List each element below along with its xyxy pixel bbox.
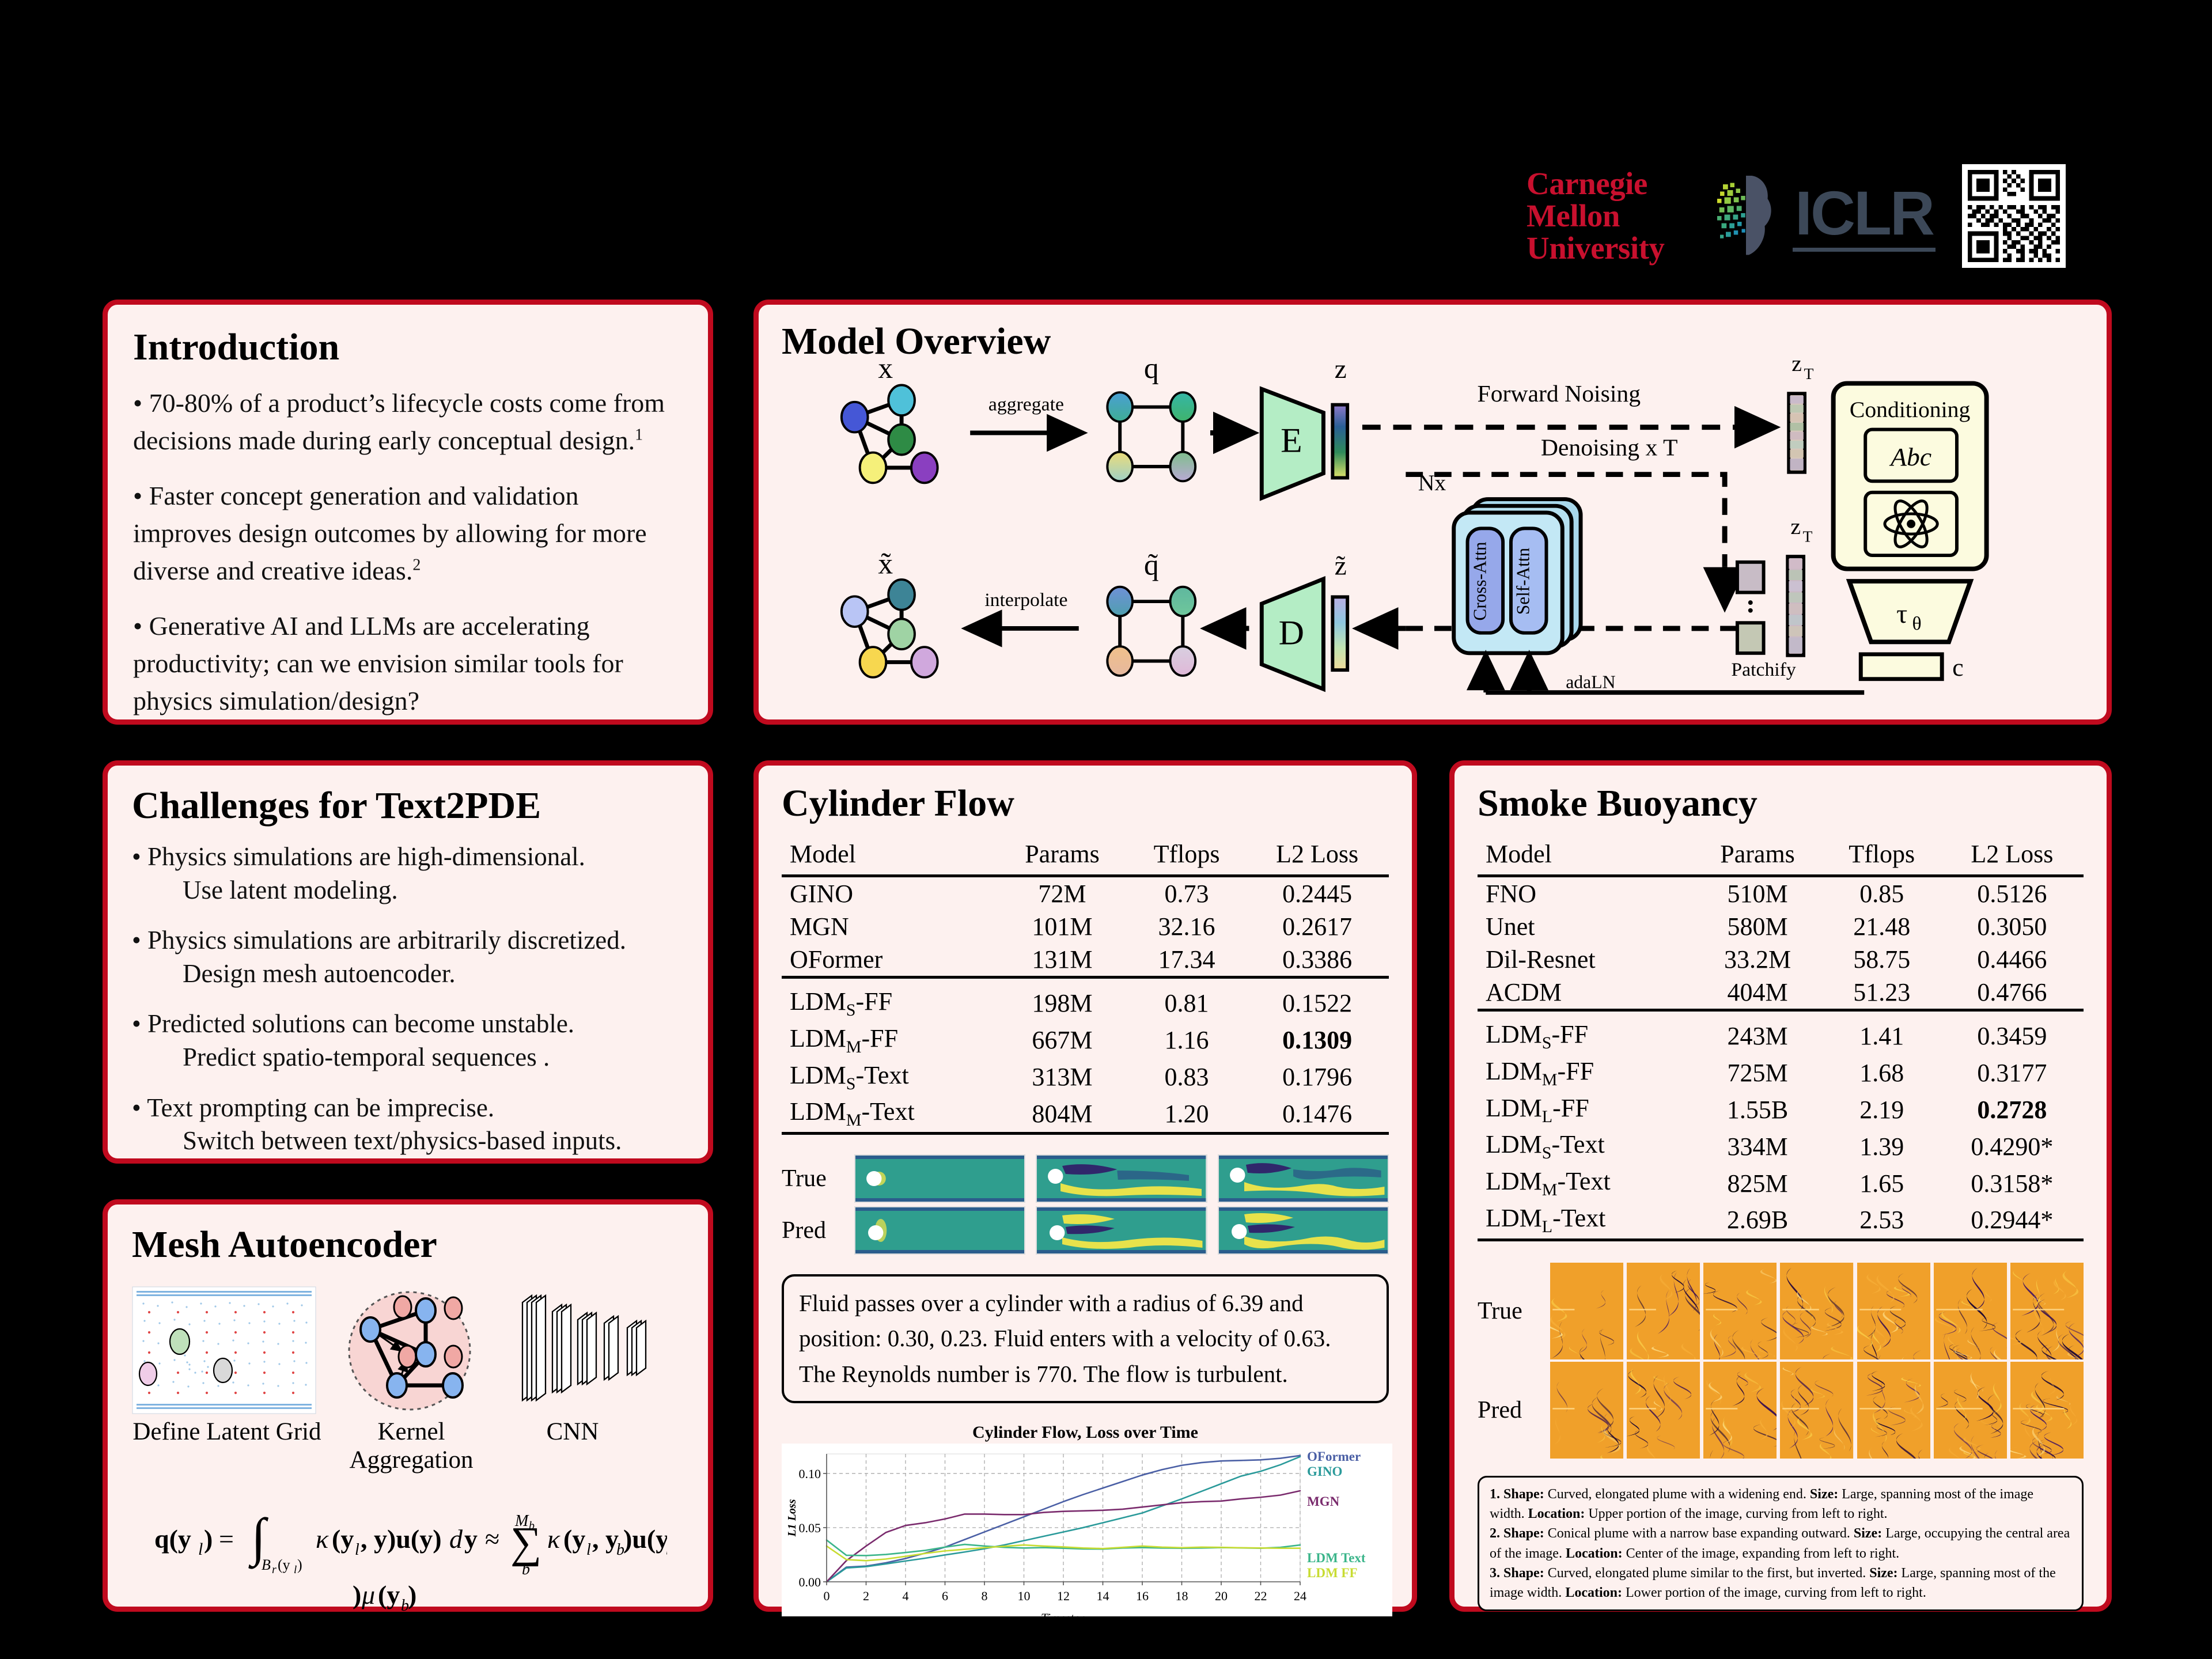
svg-text:24: 24 (1294, 1589, 1306, 1603)
challenge-bullet: • Physics simulations are high-dimension… (132, 842, 585, 871)
cylinder-true-frame-1 (854, 1154, 1025, 1203)
challenge-sub: Switch between text/physics-based inputs… (183, 1124, 684, 1158)
svg-text:r: r (272, 1563, 276, 1576)
smoke-frame (1550, 1263, 1623, 1359)
svg-text:10: 10 (1018, 1589, 1031, 1603)
mesh-stage-label-cnn: CNN (501, 1418, 645, 1474)
col-loss: L2 Loss (1245, 838, 1389, 876)
smoke-frame (1857, 1362, 1930, 1459)
svg-text:z: z (1790, 514, 1801, 539)
table-row: LDMM-FF 725M 1.68 0.3177 (1478, 1055, 2084, 1092)
table-row: LDMS-FF 243M 1.41 0.3459 (1478, 1010, 2084, 1055)
cylinder-flow-panel: Cylinder Flow Model Params Tflops L2 Los… (753, 760, 1417, 1612)
svg-text:)u(y: )u(y (623, 1524, 667, 1554)
smoke-frame (1703, 1263, 1777, 1359)
row-label-true: True (1478, 1297, 1542, 1325)
col-params: Params (1692, 838, 1823, 876)
chart-legend-ldm-text: LDM Text (1307, 1551, 1366, 1565)
intro-ref-2: 2 (412, 556, 421, 574)
svg-text:14: 14 (1097, 1589, 1109, 1603)
svg-text:q(y: q(y (154, 1524, 191, 1554)
svg-text:(y: (y (378, 1581, 400, 1609)
table-row: ACDM 404M 51.23 0.4766 (1478, 976, 2084, 1010)
smoke-frame (1550, 1362, 1623, 1459)
introduction-panel: Introduction • 70-80% of a product’s lif… (103, 300, 713, 725)
table-row: LDML-FF 1.55B 2.19 0.2728 (1478, 1092, 2084, 1128)
table-row: LDMM-FF 667M 1.16 0.1309 (782, 1022, 1389, 1059)
graph-q (1107, 392, 1195, 481)
svg-text:T: T (1804, 365, 1813, 382)
svg-text:θ: θ (1912, 613, 1921, 634)
intro-bullet-1-text: • 70-80% of a product’s lifecycle costs … (133, 388, 665, 455)
svg-text:): ) (408, 1581, 416, 1609)
intro-bullet-3-text: • Generative AI and LLMs are acceleratin… (133, 611, 623, 716)
cylinder-visualizations: True (782, 1154, 1389, 1255)
poster-root: Carnegie Mellon University (0, 0, 2212, 1659)
introduction-bullets: • 70-80% of a product’s lifecycle costs … (133, 384, 683, 720)
smoke-frame (1703, 1362, 1777, 1459)
svg-text:): ) (204, 1524, 213, 1554)
smoke-true-row: True (1478, 1263, 2084, 1359)
svg-text:): ) (353, 1581, 361, 1609)
smoke-description-item: 1. Shape: Curved, elongated plume with a… (1490, 1484, 2071, 1524)
svg-text:≈: ≈ (485, 1524, 499, 1554)
svg-text:Self-Attn: Self-Attn (1513, 548, 1533, 615)
smoke-frame (1934, 1362, 2007, 1459)
smoke-frame (1780, 1263, 1853, 1359)
intro-ref-1: 1 (635, 426, 643, 444)
svg-text:z̃: z̃ (1335, 551, 1347, 581)
challenge-item: • Physics simulations are high-dimension… (132, 840, 684, 907)
svg-text:c: c (1952, 654, 1963, 681)
svg-text:B: B (262, 1556, 271, 1573)
intro-bullet-3: • Generative AI and LLMs are acceleratin… (133, 607, 683, 720)
svg-text:Nx: Nx (1418, 470, 1446, 495)
brain-icon (1709, 173, 1783, 259)
svg-text:0: 0 (824, 1589, 830, 1603)
table-row: LDML-Text 2.69B 2.53 0.2944* (1478, 1202, 2084, 1240)
svg-text:Cross-Attn: Cross-Attn (1469, 541, 1490, 620)
model-overview-diagram: x aggregate q E (759, 305, 2107, 719)
graph-x-tilde (842, 579, 938, 677)
poster-header: Carnegie Mellon University (1527, 161, 2149, 271)
svg-text:8: 8 (982, 1589, 988, 1603)
model-overview-panel: Model Overview (753, 300, 2112, 725)
mesh-equation: q(y l ) = ∫ B r (y l ) κ (y l , y)u(y) d… (132, 1503, 684, 1631)
col-loss: L2 Loss (1941, 838, 2084, 876)
latent-grid-figure (132, 1286, 316, 1414)
svg-text:Abc: Abc (1889, 442, 1931, 471)
table-row: Dil-Resnet 33.2M 58.75 0.4466 (1478, 943, 2084, 976)
smoke-frame (1627, 1263, 1700, 1359)
intro-bullet-1: • 70-80% of a product’s lifecycle costs … (133, 384, 683, 460)
cylinder-pred-frame-1 (854, 1206, 1025, 1255)
iclr-logo: ICLR (1709, 173, 1935, 259)
graph-x (842, 385, 938, 483)
smoke-results-table: Model Params Tflops L2 Loss FNO 510M 0.8… (1478, 838, 2084, 1243)
challenge-sub: Use latent modeling. (183, 874, 684, 907)
svg-text:y: y (464, 1524, 478, 1554)
challenge-sub: Predict spatio-temporal sequences . (183, 1041, 684, 1074)
svg-text:interpolate: interpolate (984, 589, 1067, 611)
svg-text:, y: , y (592, 1524, 619, 1554)
chart-legend-ldm-ff: LDM FF (1307, 1566, 1358, 1580)
cmu-logo: Carnegie Mellon University (1527, 168, 1682, 264)
mesh-autoencoder-panel: Mesh Autoencoder (103, 1199, 713, 1612)
svg-text:4: 4 (903, 1589, 909, 1603)
cylinder-true-frame-2 (1036, 1154, 1207, 1203)
table-row: FNO 510M 0.85 0.5126 (1478, 876, 2084, 911)
smoke-buoyancy-title: Smoke Buoyancy (1478, 782, 2084, 825)
col-model: Model (782, 838, 997, 876)
svg-text:adaLN: adaLN (1566, 672, 1615, 692)
cylinder-pred-frame-3 (1218, 1206, 1389, 1255)
row-label-pred: Pred (1478, 1396, 1542, 1424)
svg-text:d: d (449, 1524, 463, 1554)
challenge-sub: Design mesh autoencoder. (183, 957, 684, 991)
col-params: Params (997, 838, 1128, 876)
challenges-panel: Challenges for Text2PDE • Physics simula… (103, 760, 713, 1164)
cylinder-flow-title: Cylinder Flow (782, 782, 1389, 825)
cylinder-caption-text: Fluid passes over a cylinder with a radi… (799, 1290, 1331, 1387)
smoke-frame (2010, 1362, 2084, 1459)
table-row: GINO 72M 0.73 0.2445 (782, 876, 1389, 911)
table-row: LDMS-Text 313M 0.83 0.1796 (782, 1059, 1389, 1096)
smoke-buoyancy-panel: Smoke Buoyancy Model Params Tflops L2 Lo… (1449, 760, 2112, 1612)
cylinder-caption-box: Fluid passes over a cylinder with a radi… (782, 1274, 1389, 1404)
challenges-list: • Physics simulations are high-dimension… (132, 840, 684, 1158)
svg-text:q: q (1144, 352, 1159, 385)
col-model: Model (1478, 838, 1692, 876)
svg-text:∑: ∑ (510, 1518, 541, 1567)
svg-text:L1 Loss: L1 Loss (786, 1499, 798, 1537)
svg-text:l: l (355, 1541, 359, 1559)
intro-bullet-2-text: • Faster concept generation and validati… (133, 481, 647, 586)
graph-q-tilde (1107, 587, 1195, 676)
svg-text:μ: μ (361, 1581, 375, 1609)
table-row: LDMM-Text 804M 1.20 0.1476 (782, 1095, 1389, 1133)
smoke-description-item: 2. Shape: Conical plume with a narrow ba… (1490, 1524, 2071, 1563)
svg-text:(y: (y (563, 1524, 585, 1554)
table-row: LDMS-Text 334M 1.39 0.4290* (1478, 1128, 2084, 1165)
challenge-bullet: • Text prompting can be imprecise. (132, 1093, 494, 1122)
mesh-figures (132, 1286, 684, 1414)
table-row: LDMM-Text 825M 1.65 0.3158* (1478, 1165, 2084, 1202)
table-row: Unet 580M 21.48 0.3050 (1478, 910, 2084, 943)
svg-text:z: z (1791, 351, 1802, 376)
cylinder-true-frame-3 (1218, 1154, 1389, 1203)
col-tflops: Tflops (1128, 838, 1246, 876)
svg-text:D: D (1279, 614, 1304, 652)
mesh-stage-label-kernel: Kernel Aggregation (322, 1418, 501, 1474)
svg-text:b: b (522, 1560, 530, 1578)
svg-text:x: x (878, 352, 893, 385)
svg-text:18: 18 (1176, 1589, 1188, 1603)
introduction-title: Introduction (133, 325, 683, 369)
cylinder-results-table: Model Params Tflops L2 Loss GINO 72M 0.7… (782, 838, 1389, 1137)
row-label-pred: Pred (782, 1217, 846, 1244)
svg-text:z: z (1335, 354, 1347, 384)
svg-text:): ) (297, 1556, 302, 1573)
table-row: MGN 101M 32.16 0.2617 (782, 910, 1389, 943)
svg-text:b: b (666, 1541, 667, 1559)
table-row: OFormer 131M 17.34 0.3386 (782, 943, 1389, 978)
svg-text:12: 12 (1057, 1589, 1070, 1603)
svg-text:Forward Noising: Forward Noising (1478, 380, 1641, 407)
svg-text:l: l (586, 1541, 591, 1559)
smoke-pred-row: Pred (1478, 1362, 2084, 1459)
smoke-description-item: 3. Shape: Curved, elongated plume simila… (1490, 1563, 2071, 1603)
chart-legend-gino: GINO (1307, 1464, 1342, 1479)
smoke-description-box: 1. Shape: Curved, elongated plume with a… (1478, 1476, 2084, 1611)
mesh-title: Mesh Autoencoder (132, 1223, 684, 1267)
cmu-line-3: University (1527, 232, 1682, 264)
svg-text:κ: κ (547, 1524, 560, 1554)
kernel-aggregation-figure (329, 1286, 502, 1414)
intro-bullet-2: • Faster concept generation and validati… (133, 477, 683, 590)
challenges-title: Challenges for Text2PDE (132, 784, 684, 828)
svg-text:κ: κ (316, 1524, 329, 1554)
svg-text:22: 22 (1255, 1589, 1267, 1603)
svg-text:q̃: q̃ (1144, 549, 1159, 582)
svg-text:0.05: 0.05 (799, 1521, 821, 1535)
svg-text:l: l (294, 1564, 297, 1576)
svg-text:=: = (219, 1524, 234, 1554)
svg-text:Timestep: Timestep (1041, 1611, 1086, 1616)
cylinder-loss-chart: Cylinder Flow, Loss over Time 0246810121… (782, 1423, 1389, 1619)
smoke-frame (2010, 1263, 2084, 1359)
svg-text:Denoising x T: Denoising x T (1541, 434, 1678, 461)
chart-legend-mgn: MGN (1307, 1494, 1340, 1509)
svg-text:2: 2 (863, 1589, 869, 1603)
cylinder-pred-frame-2 (1036, 1206, 1207, 1255)
cmu-line-2: Mellon (1527, 200, 1682, 232)
svg-text:, y)u(y): , y)u(y) (361, 1524, 442, 1554)
svg-text:T: T (1803, 528, 1813, 546)
table-row: LDMS-FF 198M 0.81 0.1522 (782, 978, 1389, 1022)
svg-text:τ: τ (1896, 600, 1907, 630)
cnn-figure (514, 1286, 658, 1414)
qr-code[interactable] (1962, 164, 2066, 268)
challenge-item: • Predicted solutions can become unstabl… (132, 1007, 684, 1074)
smoke-frame (1627, 1362, 1700, 1459)
challenge-bullet: • Predicted solutions can become unstabl… (132, 1009, 574, 1038)
smoke-frame (1780, 1362, 1853, 1459)
cmu-line-1: Carnegie (1527, 168, 1682, 200)
chart-legend-oformer: OFormer (1307, 1449, 1361, 1464)
mesh-stage-labels: Define Latent Grid Kernel Aggregation CN… (132, 1418, 684, 1474)
svg-text:l: l (198, 1540, 203, 1559)
svg-text:20: 20 (1215, 1589, 1228, 1603)
smoke-frame (1857, 1263, 1930, 1359)
svg-text:aggregate: aggregate (988, 394, 1064, 415)
chart-title: Cylinder Flow, Loss over Time (782, 1423, 1389, 1442)
svg-text:E: E (1281, 422, 1302, 460)
mesh-stage-label-grid: Define Latent Grid (132, 1418, 322, 1474)
kernel-integral-equation-svg: q(y l ) = ∫ B r (y l ) κ (y l , y)u(y) d… (149, 1503, 667, 1578)
svg-text:16: 16 (1136, 1589, 1149, 1603)
svg-text:(y: (y (332, 1524, 354, 1554)
kernel-equation-tail: ) μ (y b ) (353, 1581, 456, 1615)
svg-text:x̃: x̃ (878, 548, 893, 581)
cylinder-pred-row: Pred (782, 1206, 1389, 1255)
svg-text:0.00: 0.00 (799, 1575, 821, 1589)
iclr-wordmark: ICLR (1793, 180, 1935, 252)
challenge-bullet: • Physics simulations are arbitrarily di… (132, 926, 626, 955)
chart-svg: 0246810121416182022240.000.050.10Timeste… (782, 1444, 1392, 1616)
svg-text:0.10: 0.10 (799, 1467, 821, 1481)
svg-text:Patchify: Patchify (1731, 659, 1796, 680)
svg-text:6: 6 (942, 1589, 948, 1603)
row-label-true: True (782, 1165, 846, 1192)
smoke-frame (1934, 1263, 2007, 1359)
smoke-visualizations: True Pred (1478, 1263, 2084, 1459)
svg-text:(y: (y (278, 1556, 290, 1573)
challenge-item: • Physics simulations are arbitrarily di… (132, 924, 684, 990)
cylinder-true-row: True (782, 1154, 1389, 1203)
svg-text:Conditioning: Conditioning (1850, 397, 1971, 422)
challenge-item: • Text prompting can be imprecise. Switc… (132, 1092, 684, 1158)
col-tflops: Tflops (1823, 838, 1941, 876)
